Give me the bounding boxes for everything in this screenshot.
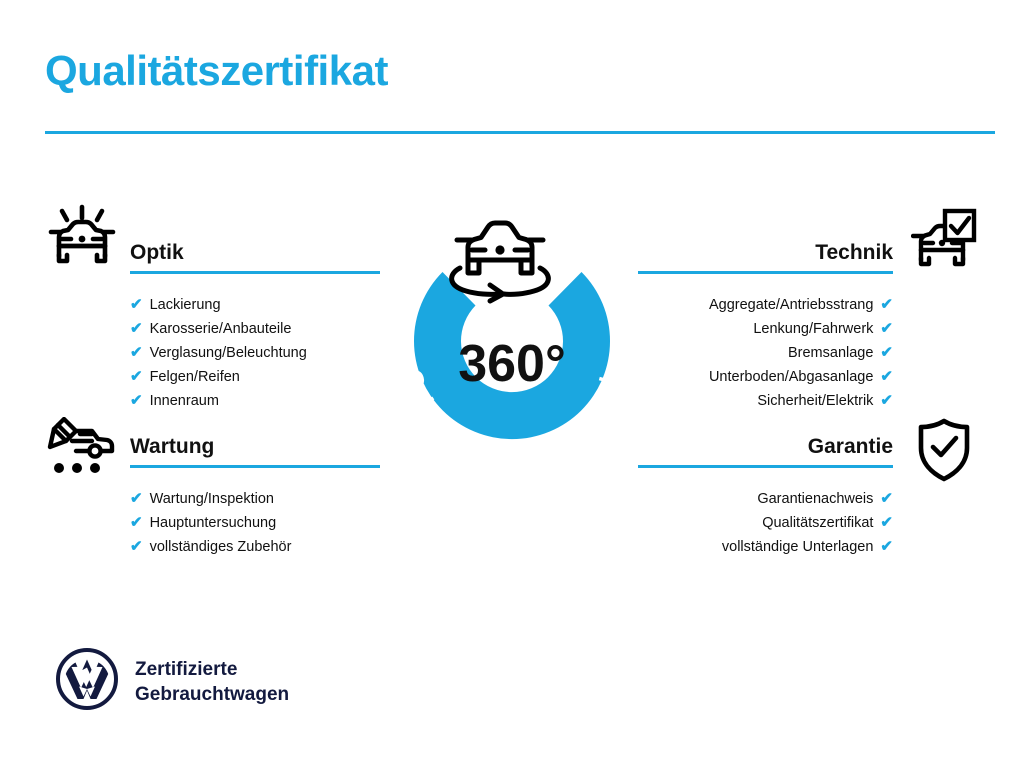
list-item-label: Innenraum [150, 389, 219, 413]
pencil-car-service-icon [46, 417, 118, 484]
list-item: ✔ Lackierung [130, 293, 380, 317]
check-icon: ✔ [880, 487, 893, 511]
section-garantie-items: Garantienachweis ✔ Qualitätszertifikat ✔… [638, 487, 893, 559]
car-checkbox-icon [911, 208, 977, 275]
check-icon: ✔ [130, 341, 143, 365]
list-item-label: vollständige Unterlagen [722, 535, 874, 559]
list-item-label: Felgen/Reifen [150, 365, 240, 389]
list-item-label: Lackierung [150, 293, 221, 317]
badge-360-gebrauchtwagen-check: Gebrauchtwagen-Check 360° [378, 196, 646, 486]
list-item-label: Lenkung/Fahrwerk [753, 317, 873, 341]
list-item-label: Karosserie/Anbauteile [150, 317, 292, 341]
check-icon: ✔ [130, 389, 143, 413]
check-icon: ✔ [130, 293, 143, 317]
list-item: ✔ Hauptuntersuchung [130, 511, 380, 535]
list-item: Bremsanlage ✔ [638, 341, 893, 365]
section-wartung: Wartung ✔ Wartung/Inspektion ✔ Hauptunte… [130, 434, 380, 559]
section-wartung-underline [130, 465, 380, 468]
section-garantie-underline [638, 465, 893, 468]
check-icon: ✔ [880, 293, 893, 317]
section-technik-items: Aggregate/Antriebsstrang ✔ Lenkung/Fahrw… [638, 293, 893, 413]
page-title: Qualitätszertifikat [45, 50, 388, 92]
list-item-label: Verglasung/Beleuchtung [150, 341, 307, 365]
volkswagen-logo [55, 647, 119, 716]
footer-brand: Zertifizierte Gebrauchtwagen [55, 647, 289, 716]
check-icon: ✔ [130, 511, 143, 535]
check-icon: ✔ [880, 365, 893, 389]
header-divider [45, 131, 995, 134]
list-item: ✔ Wartung/Inspektion [130, 487, 380, 511]
list-item: ✔ Karosserie/Anbauteile [130, 317, 380, 341]
check-icon: ✔ [130, 317, 143, 341]
check-icon: ✔ [880, 317, 893, 341]
list-item-label: Aggregate/Antriebsstrang [709, 293, 873, 317]
list-item-label: Qualitätszertifikat [762, 511, 873, 535]
list-item: Sicherheit/Elektrik ✔ [638, 389, 893, 413]
section-technik: Technik Aggregate/Antriebsstrang ✔ Lenku… [638, 240, 893, 413]
list-item-label: Bremsanlage [788, 341, 873, 365]
list-item-label: Unterboden/Abgasanlage [709, 365, 873, 389]
check-icon: ✔ [880, 341, 893, 365]
list-item: ✔ Innenraum [130, 389, 380, 413]
check-icon: ✔ [130, 487, 143, 511]
section-garantie: Garantie Garantienachweis ✔ Qualitätszer… [638, 434, 893, 559]
section-technik-underline [638, 271, 893, 274]
list-item: Qualitätszertifikat ✔ [638, 511, 893, 535]
shield-check-icon [916, 418, 972, 487]
car-rotation-icon [452, 223, 549, 301]
section-technik-title: Technik [638, 240, 893, 266]
list-item: ✔ Felgen/Reifen [130, 365, 380, 389]
section-optik-header: Optik [130, 240, 380, 280]
list-item-label: Sicherheit/Elektrik [757, 389, 873, 413]
footer-line-2: Gebrauchtwagen [135, 684, 289, 705]
check-icon: ✔ [130, 365, 143, 389]
list-item-label: Hauptuntersuchung [150, 511, 277, 535]
check-icon: ✔ [130, 535, 143, 559]
section-technik-header: Technik [638, 240, 893, 280]
list-item: vollständige Unterlagen ✔ [638, 535, 893, 559]
list-item: Unterboden/Abgasanlage ✔ [638, 365, 893, 389]
list-item-label: Wartung/Inspektion [150, 487, 274, 511]
section-wartung-header: Wartung [130, 434, 380, 474]
list-item: ✔ vollständiges Zubehör [130, 535, 380, 559]
list-item: Garantienachweis ✔ [638, 487, 893, 511]
section-garantie-title: Garantie [638, 434, 893, 460]
check-icon: ✔ [880, 511, 893, 535]
footer-brand-text: Zertifizierte Gebrauchtwagen [135, 657, 289, 707]
list-item: ✔ Verglasung/Beleuchtung [130, 341, 380, 365]
list-item-label: vollständiges Zubehör [150, 535, 292, 559]
check-icon: ✔ [880, 389, 893, 413]
badge-center-label: 360° [458, 335, 566, 393]
section-wartung-title: Wartung [130, 434, 380, 460]
footer-line-1: Zertifizierte [135, 659, 237, 680]
section-optik-items: ✔ Lackierung ✔ Karosserie/Anbauteile ✔ V… [130, 293, 380, 413]
list-item: Lenkung/Fahrwerk ✔ [638, 317, 893, 341]
section-garantie-header: Garantie [638, 434, 893, 474]
section-optik-title: Optik [130, 240, 380, 266]
section-optik: Optik ✔ Lackierung ✔ Karosserie/Anbautei… [130, 240, 380, 413]
car-front-shine-icon [46, 204, 118, 275]
list-item-label: Garantienachweis [757, 487, 873, 511]
section-optik-underline [130, 271, 380, 274]
list-item: Aggregate/Antriebsstrang ✔ [638, 293, 893, 317]
check-icon: ✔ [880, 535, 893, 559]
section-wartung-items: ✔ Wartung/Inspektion ✔ Hauptuntersuchung… [130, 487, 380, 559]
